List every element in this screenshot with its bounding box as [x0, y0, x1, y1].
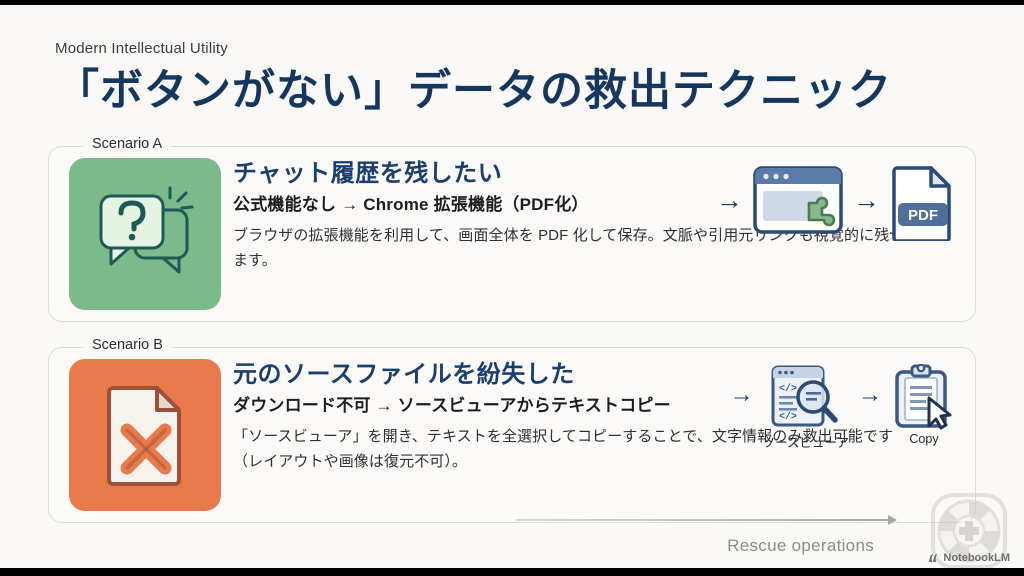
- rescue-operations-label: Rescue operations: [727, 536, 874, 556]
- pdf-file-flow-item: PDF: [889, 165, 957, 243]
- source-viewer-flow-item: </> </> ソースビューア: [763, 364, 849, 451]
- pdf-file-icon: PDF: [889, 165, 957, 241]
- arrow-right-icon: →: [713, 165, 746, 235]
- letterbox-top-bar: [0, 0, 1024, 5]
- scenario-b-flow: → </> </> ソースビ: [727, 364, 957, 451]
- eyebrow-text: Modern Intellectual Utility: [55, 40, 228, 57]
- svg-text:</>: </>: [779, 383, 797, 395]
- clipboard-cursor-icon: [891, 364, 957, 430]
- source-viewer-magnifier-icon: </> </>: [769, 364, 843, 430]
- broken-file-x-icon: [69, 359, 221, 511]
- question-chat-bubbles-icon: [69, 158, 221, 310]
- pdf-badge-label: PDF: [908, 207, 938, 224]
- arrow-right-icon: →: [727, 364, 757, 426]
- scenario-b-card: Scenario B 元のソースファイルを紛失した ダウンロード不可 → ソース…: [48, 347, 976, 523]
- arrow-right-icon: →: [855, 364, 885, 426]
- scenario-b-legend: Scenario B: [83, 337, 172, 353]
- copy-caption: Copy: [909, 432, 938, 446]
- notebooklm-logo-icon: [927, 552, 939, 564]
- source-viewer-caption: ソースビューア: [763, 432, 849, 451]
- page-title: 「ボタンがない」データの救出テクニック: [56, 66, 892, 116]
- rescue-flow-arrow: [516, 519, 896, 521]
- notebooklm-brand: NotebookLM: [927, 552, 1010, 564]
- arrow-right-icon: →: [850, 165, 883, 235]
- notebooklm-brand-label: NotebookLM: [943, 552, 1010, 564]
- svg-text:</>: </>: [779, 411, 797, 423]
- scenario-a-legend: Scenario A: [83, 136, 171, 152]
- scenario-a-card: Scenario A チャット履歴を残したい 公式機能なし → Chrome 拡…: [48, 146, 976, 322]
- scenario-a-flow: → → PDF: [713, 165, 957, 243]
- letterbox-bottom-bar: [0, 568, 1024, 576]
- slide-canvas: Modern Intellectual Utility 「ボタンがない」データの…: [0, 0, 1024, 576]
- copy-clipboard-flow-item: Copy: [891, 364, 957, 446]
- browser-extension-flow-item: [752, 165, 844, 239]
- browser-extension-icon: [752, 165, 844, 237]
